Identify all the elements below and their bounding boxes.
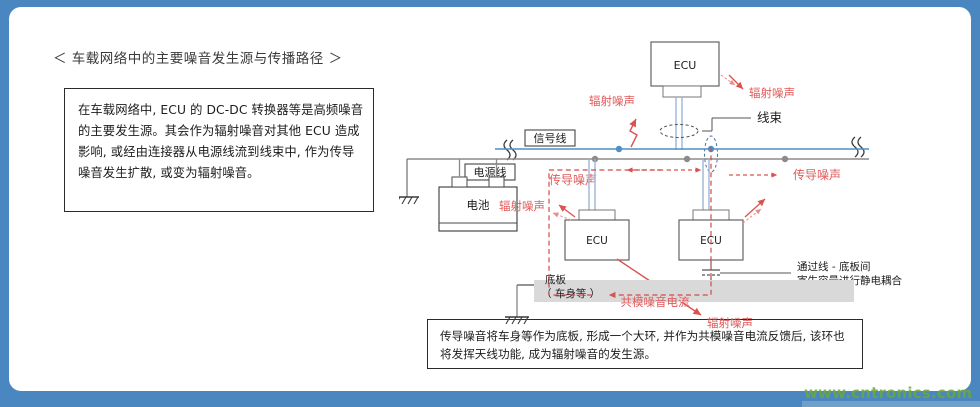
chassis-label-line2: （ 车身等 ） — [541, 287, 600, 300]
signal-line-label-group: 信号线 — [525, 130, 575, 146]
radiated-noise-bottom-label: 辐射噪声 — [707, 316, 753, 330]
battery-terminal-positive — [489, 177, 504, 187]
ground-symbol-chassis — [505, 285, 529, 324]
radiated-noise-left-label: 辐射噪声 — [499, 199, 545, 213]
signal-line-label: 信号线 — [534, 131, 567, 145]
ecu-top-group: ECU — [651, 42, 719, 97]
ground-symbol-battery — [399, 159, 419, 204]
radiated-noise-signal-group: 辐射噪声 — [589, 94, 637, 147]
conducted-noise-left-group: 传导噪声 — [549, 170, 661, 187]
radiated-noise-signal-label: 辐射噪声 — [589, 94, 635, 108]
battery-label: 电池 — [467, 198, 490, 212]
chassis-label-line1: 底板 — [545, 273, 566, 286]
conducted-noise-right-group: 传导噪声 — [667, 167, 841, 182]
harness-label: 线束 — [757, 110, 783, 125]
conducted-noise-left-label: 传导噪声 — [549, 172, 597, 187]
ecu-top-connector — [663, 86, 701, 97]
harness-bundle-group: 线束 — [660, 110, 783, 172]
ecu-top-label: ECU — [674, 59, 697, 72]
watermark-text: www.cntronics.com — [804, 384, 972, 402]
content-panel: ＜ 车载网络中的主要噪音发生源与传播路径 ＞ 在车载网络中, ECU 的 DC-… — [9, 7, 971, 391]
break-symbol-left — [504, 140, 516, 160]
outer-frame: ＜ 车载网络中的主要噪音发生源与传播路径 ＞ 在车载网络中, ECU 的 DC-… — [0, 0, 980, 405]
common-mode-current-label: 共模噪音电流 — [621, 295, 690, 309]
battery-terminal-negative — [452, 177, 467, 187]
radiated-noise-battery-group — [743, 199, 765, 223]
conducted-noise-right-label: 传导噪声 — [793, 167, 841, 182]
page-title: ＜ 车载网络中的主要噪音发生源与传播路径 ＞ — [53, 47, 343, 67]
break-symbol-right — [852, 137, 864, 157]
coupling-note-line1: 通过线 - 底板间 — [797, 260, 870, 273]
description-text: 在车载网络中, ECU 的 DC-DC 转换器等是高频噪音的主要发生源。其会作为… — [78, 100, 366, 184]
harness-ellipse-horizontal — [660, 125, 698, 138]
harness-wires-top — [676, 97, 682, 150]
ecu-left-connector — [579, 210, 615, 220]
radiated-noise-top-group: 辐射噪声 — [721, 75, 795, 100]
ecu-left-label: ECU — [586, 235, 608, 247]
noise-path-diagram: ECU 辐射噪声 线束 — [399, 27, 979, 337]
radiated-noise-top-label: 辐射噪声 — [749, 86, 795, 100]
watermark-bar — [802, 401, 980, 407]
description-box: 在车载网络中, ECU 的 DC-DC 转换器等是高频噪音的主要发生源。其会作为… — [64, 88, 374, 212]
